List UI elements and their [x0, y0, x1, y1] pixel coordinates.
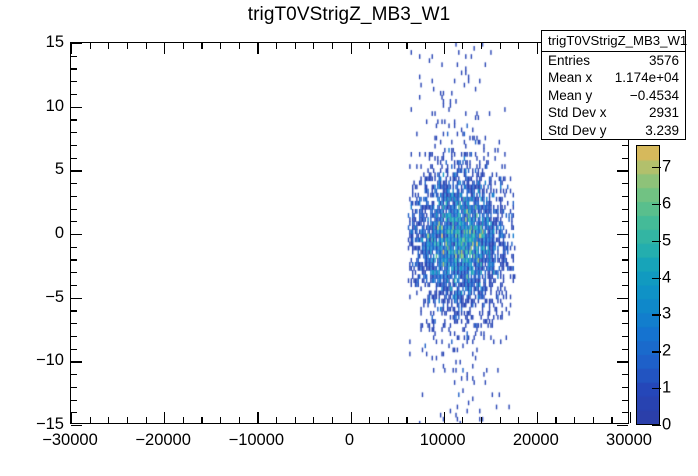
x-tick-top	[108, 43, 109, 49]
x-tick	[295, 417, 296, 423]
x-tick	[462, 417, 463, 423]
x-tick	[127, 417, 128, 423]
stats-row-value: 2931	[649, 104, 679, 121]
x-tick	[574, 417, 575, 423]
color-bar-tick	[652, 204, 661, 205]
x-tick	[537, 412, 538, 423]
y-tick	[71, 119, 77, 120]
stats-row-key: Entries	[548, 52, 590, 69]
x-tick	[630, 412, 631, 423]
y-tick-right	[622, 259, 628, 260]
x-tick-top	[369, 43, 370, 49]
stats-row: Std Dev x2931	[542, 104, 685, 121]
y-tick-right	[622, 387, 628, 388]
x-tick	[406, 417, 407, 423]
y-tick-right	[622, 310, 628, 311]
y-tick	[71, 234, 82, 235]
y-axis-tick-label: 5	[0, 160, 64, 179]
stats-row-value: −0.4534	[630, 87, 679, 104]
color-bar-tick	[652, 241, 661, 242]
y-axis-tick-label: 10	[0, 97, 64, 116]
y-tick-right	[617, 298, 628, 299]
y-tick-right	[622, 336, 628, 337]
y-tick-right	[617, 361, 628, 362]
x-tick-top	[71, 43, 72, 54]
y-tick-right	[617, 170, 628, 171]
y-tick-right	[617, 425, 628, 426]
x-tick-top	[425, 43, 426, 49]
color-bar-tick-label: 6	[662, 194, 671, 213]
x-tick-top	[481, 43, 482, 49]
x-tick-top	[406, 43, 407, 49]
x-tick	[146, 417, 147, 423]
y-tick	[71, 158, 77, 159]
y-tick	[71, 349, 77, 350]
stats-row-key: Mean x	[548, 69, 592, 86]
y-tick-right	[622, 183, 628, 184]
color-bar-tick	[652, 167, 661, 168]
y-tick-right	[622, 323, 628, 324]
x-tick-top	[164, 43, 165, 54]
x-tick	[183, 417, 184, 423]
y-tick	[71, 170, 82, 171]
y-tick	[71, 259, 77, 260]
y-tick	[71, 374, 77, 375]
x-axis-tick-label: 10000	[420, 431, 466, 450]
y-tick	[71, 209, 77, 210]
stats-row: Mean y−0.4534	[542, 87, 685, 104]
x-axis-tick-label: −30000	[42, 431, 98, 450]
stats-row-value: 3576	[649, 52, 679, 69]
y-tick-right	[622, 145, 628, 146]
stats-row: Entries3576	[542, 52, 685, 69]
x-axis-tick-label: 30000	[606, 431, 652, 450]
x-tick	[425, 417, 426, 423]
stats-row: Mean x1.174e+04	[542, 69, 685, 86]
color-bar-tick-label: 2	[662, 342, 671, 361]
y-axis-tick-label: 0	[0, 224, 64, 243]
x-tick-top	[257, 43, 258, 54]
stats-row-value: 3.239	[645, 122, 679, 139]
x-tick	[239, 417, 240, 423]
x-tick	[351, 412, 352, 423]
y-axis-tick-label: −10	[0, 351, 64, 370]
y-tick-right	[622, 374, 628, 375]
color-bar-tick-label: 1	[662, 379, 671, 398]
x-tick	[108, 417, 109, 423]
x-tick	[593, 417, 594, 423]
root-figure: trigT0VStrigZ_MB3_W1 151050−5−10−15 −300…	[0, 0, 698, 476]
x-tick-top	[239, 43, 240, 49]
color-bar-tick-label: 0	[662, 416, 671, 435]
y-tick	[71, 387, 77, 388]
y-tick-right	[622, 196, 628, 197]
y-axis-tick-label: 15	[0, 33, 64, 52]
x-tick-top	[276, 43, 277, 49]
stats-box-title: trigT0VStrigZ_MB3_W1	[542, 31, 685, 52]
y-tick	[71, 145, 77, 146]
x-tick-top	[127, 43, 128, 49]
x-tick-top	[313, 43, 314, 49]
x-tick	[555, 417, 556, 423]
x-tick	[518, 417, 519, 423]
y-tick	[71, 56, 77, 57]
x-axis-tick-label: 0	[345, 431, 354, 450]
x-tick	[388, 417, 389, 423]
color-bar-tick	[652, 278, 661, 279]
y-axis-tick-label: −5	[0, 288, 64, 307]
x-tick	[71, 412, 72, 423]
x-tick	[276, 417, 277, 423]
color-bar-tick-label: 5	[662, 231, 671, 250]
x-tick-top	[444, 43, 445, 54]
color-bar-tick	[652, 351, 661, 352]
x-tick-top	[332, 43, 333, 49]
color-bar-tick	[652, 388, 661, 389]
x-tick	[201, 417, 202, 423]
x-tick	[164, 412, 165, 423]
y-tick-right	[622, 272, 628, 273]
y-tick-right	[622, 247, 628, 248]
x-tick	[369, 417, 370, 423]
stats-box-rows: Entries3576Mean x1.174e+04Mean y−0.4534S…	[542, 52, 685, 139]
x-tick-top	[462, 43, 463, 49]
y-tick	[71, 94, 77, 95]
x-tick	[90, 417, 91, 423]
y-tick	[71, 221, 77, 222]
y-tick	[71, 43, 82, 44]
y-tick-right	[622, 285, 628, 286]
x-tick-top	[388, 43, 389, 49]
stats-row: Std Dev y3.239	[542, 122, 685, 139]
y-tick-right	[622, 400, 628, 401]
y-tick	[71, 132, 77, 133]
color-bar-tick-label: 3	[662, 305, 671, 324]
color-bar	[636, 145, 660, 425]
x-axis-tick-label: −20000	[135, 431, 191, 450]
y-tick	[71, 107, 82, 108]
y-tick	[71, 336, 77, 337]
x-tick	[444, 412, 445, 423]
x-tick	[332, 417, 333, 423]
color-bar-gradient	[637, 146, 659, 424]
x-tick-top	[295, 43, 296, 49]
y-tick	[71, 323, 77, 324]
color-bar-tick-label: 7	[662, 158, 671, 177]
y-tick	[71, 183, 77, 184]
color-bar-tick	[652, 314, 661, 315]
stats-row-key: Std Dev y	[548, 122, 607, 139]
y-tick	[71, 68, 77, 69]
x-tick	[257, 412, 258, 423]
stats-row-key: Std Dev x	[548, 104, 607, 121]
y-tick-right	[622, 209, 628, 210]
y-tick	[71, 272, 77, 273]
x-tick-top	[146, 43, 147, 49]
color-bar-tick	[652, 425, 661, 426]
x-tick-top	[183, 43, 184, 49]
y-tick-right	[622, 158, 628, 159]
x-axis-tick-label: 20000	[513, 431, 559, 450]
stats-box: trigT0VStrigZ_MB3_W1 Entries3576Mean x1.…	[541, 30, 686, 140]
stats-row-value: 1.174e+04	[615, 69, 679, 86]
x-tick-top	[90, 43, 91, 49]
y-tick	[71, 298, 82, 299]
y-tick	[71, 400, 77, 401]
x-tick-top	[500, 43, 501, 49]
x-tick-top	[518, 43, 519, 49]
y-tick-right	[622, 221, 628, 222]
y-tick	[71, 361, 82, 362]
page-title: trigT0VStrigZ_MB3_W1	[0, 4, 698, 26]
x-axis-tick-label: −10000	[229, 431, 285, 450]
color-bar-tick-label: 4	[662, 268, 671, 287]
x-tick	[481, 417, 482, 423]
color-bar-axis: 01234567	[660, 145, 696, 425]
x-tick	[220, 417, 221, 423]
x-tick	[500, 417, 501, 423]
y-tick-right	[622, 412, 628, 413]
y-tick-right	[622, 349, 628, 350]
y-tick	[71, 310, 77, 311]
x-tick	[313, 417, 314, 423]
y-tick	[71, 285, 77, 286]
y-tick	[71, 425, 82, 426]
y-tick	[71, 247, 77, 248]
y-tick	[71, 196, 77, 197]
x-tick-top	[201, 43, 202, 49]
y-tick-right	[617, 234, 628, 235]
y-tick	[71, 81, 77, 82]
x-tick	[611, 417, 612, 423]
x-tick-top	[537, 43, 538, 54]
x-tick-top	[351, 43, 352, 54]
stats-row-key: Mean y	[548, 87, 592, 104]
x-tick-top	[220, 43, 221, 49]
